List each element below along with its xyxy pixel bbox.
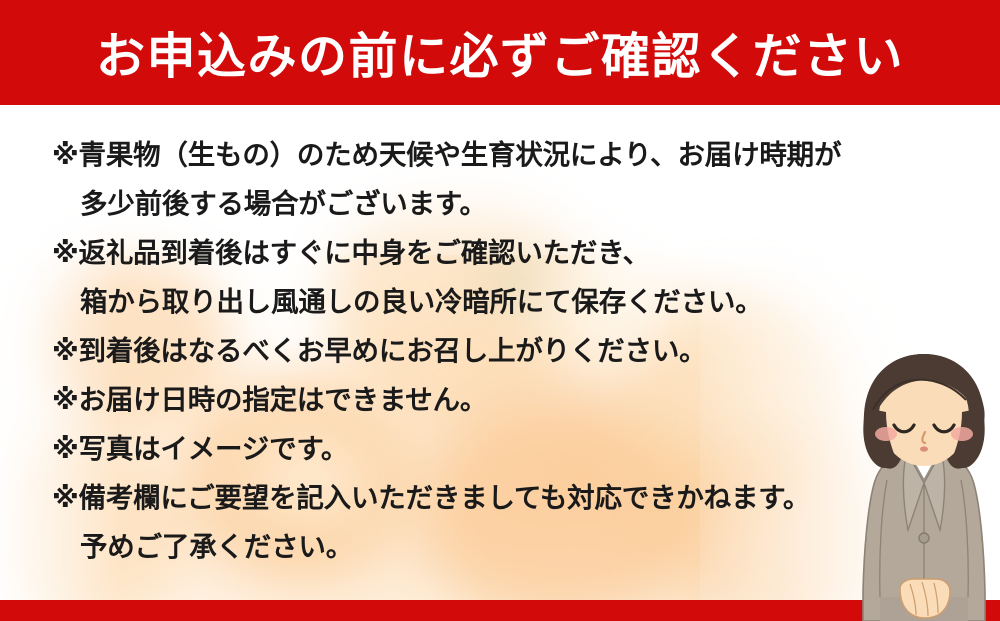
notice-item: 箱から取り出し風通しの良い冷暗所にて保存ください。: [0, 278, 1000, 327]
clasped-hands: [900, 579, 950, 618]
bowing-woman-illustration: [846, 352, 1000, 621]
notice-item: ※返礼品到着後はすぐに中身をご確認いただき、: [0, 229, 1000, 278]
right-cheek-blush: [951, 427, 973, 441]
notice-item: ※青果物（生もの）のため天候や生育状況により、お届け時期が: [0, 131, 1000, 180]
mouth: [920, 446, 928, 451]
header-banner: お申込みの前に必ずご確認ください: [0, 0, 1000, 105]
page-title: お申込みの前に必ずご確認ください: [0, 0, 1000, 105]
jacket-button: [919, 533, 929, 543]
notice-item: 多少前後する場合がございます。: [0, 180, 1000, 229]
left-cheek-blush: [875, 427, 897, 441]
notice-banner-image: お申込みの前に必ずご確認ください ※青果物（生もの）のため天候や生育状況により、…: [0, 0, 1000, 621]
